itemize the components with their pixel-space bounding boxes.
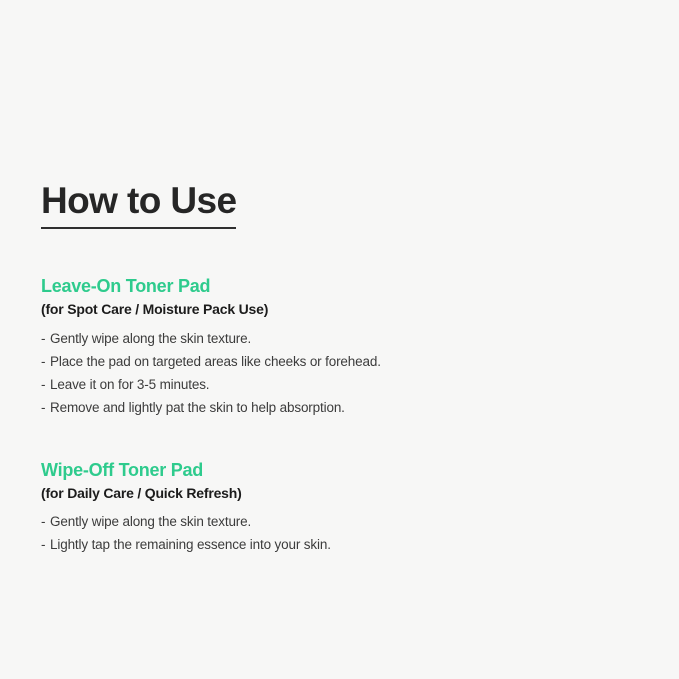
section-heading: Wipe-Off Toner Pad bbox=[41, 459, 641, 482]
bullet-dash-icon: - bbox=[41, 510, 50, 533]
step-text: Place the pad on targeted areas like che… bbox=[50, 354, 381, 369]
section-wipe-off-toner-pad: Wipe-Off Toner Pad (for Daily Care / Qui… bbox=[41, 459, 641, 557]
list-item: -Remove and lightly pat the skin to help… bbox=[41, 396, 641, 419]
step-text: Leave it on for 3-5 minutes. bbox=[50, 377, 209, 392]
step-text: Remove and lightly pat the skin to help … bbox=[50, 400, 345, 415]
step-list: -Gently wipe along the skin texture. -Li… bbox=[41, 510, 641, 556]
how-to-use-page: How to Use Leave-On Toner Pad (for Spot … bbox=[0, 0, 679, 679]
step-text: Gently wipe along the skin texture. bbox=[50, 331, 251, 346]
step-list: -Gently wipe along the skin texture. -Pl… bbox=[41, 327, 641, 419]
list-item: -Leave it on for 3-5 minutes. bbox=[41, 373, 641, 396]
bullet-dash-icon: - bbox=[41, 373, 50, 396]
section-subtitle: (for Daily Care / Quick Refresh) bbox=[41, 484, 641, 502]
bullet-dash-icon: - bbox=[41, 327, 50, 350]
bullet-dash-icon: - bbox=[41, 533, 50, 556]
content-container: How to Use Leave-On Toner Pad (for Spot … bbox=[41, 182, 641, 556]
section-heading: Leave-On Toner Pad bbox=[41, 275, 641, 298]
page-title: How to Use bbox=[41, 182, 236, 229]
section-subtitle: (for Spot Care / Moisture Pack Use) bbox=[41, 300, 641, 318]
step-text: Lightly tap the remaining essence into y… bbox=[50, 537, 331, 552]
step-text: Gently wipe along the skin texture. bbox=[50, 514, 251, 529]
list-item: -Lightly tap the remaining essence into … bbox=[41, 533, 641, 556]
list-item: -Place the pad on targeted areas like ch… bbox=[41, 350, 641, 373]
bullet-dash-icon: - bbox=[41, 396, 50, 419]
section-leave-on-toner-pad: Leave-On Toner Pad (for Spot Care / Mois… bbox=[41, 275, 641, 419]
list-item: -Gently wipe along the skin texture. bbox=[41, 327, 641, 350]
list-item: -Gently wipe along the skin texture. bbox=[41, 510, 641, 533]
bullet-dash-icon: - bbox=[41, 350, 50, 373]
